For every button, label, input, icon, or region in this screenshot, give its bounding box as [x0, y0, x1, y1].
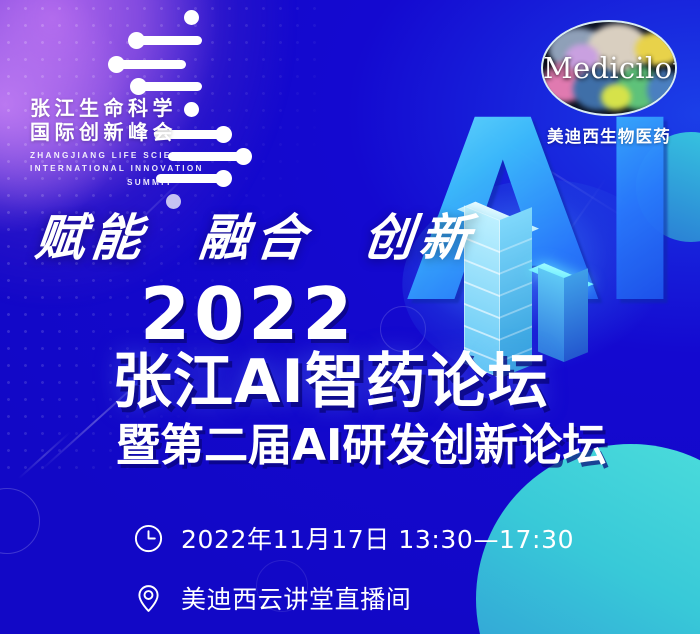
medicilon-logo: Medicilon 美迪西生物医药 [534, 20, 684, 147]
medicilon-wordmark: Medicilon [543, 51, 675, 85]
summit-logo-en-line1: ZHANGJIANG LIFE SCIENCE [30, 151, 196, 160]
event-year: 2022 [140, 278, 356, 350]
event-datetime-text: 2022年11月17日 13:30—17:30 [181, 520, 574, 556]
event-poster: AI AI 张江生命科学 国际创新 [0, 0, 700, 634]
slogan: 赋能 融合 创新 [32, 198, 480, 270]
summit-logo: 张江生命科学 国际创新峰会 ZHANGJIANG LIFE SCIENCE IN… [30, 96, 290, 189]
summit-logo-en-line3: SUMMIT [30, 176, 290, 190]
page-subtitle: 暨第二届AI研发创新论坛 [116, 424, 606, 468]
slogan-word-3: 创新 [360, 198, 480, 270]
slogan-word-2: 融合 [196, 198, 316, 270]
location-pin-icon [133, 583, 164, 614]
slogan-word-1: 赋能 [32, 198, 152, 270]
summit-logo-cn-line1: 张江生命科学 [30, 96, 290, 120]
summit-logo-en: ZHANGJIANG LIFE SCIENCE INTERNATIONAL IN… [30, 149, 290, 190]
summit-logo-cn-line2: 国际创新峰会 [30, 120, 290, 144]
medicilon-cn-name: 美迪西生物医药 [534, 123, 684, 147]
event-details: 2022年11月17日 13:30—17:30 美迪西云讲堂直播间 [133, 520, 574, 634]
medicilon-oval-mark: Medicilon [541, 20, 677, 116]
clock-icon [133, 523, 164, 554]
page-title: 张江AI智药论坛 [112, 352, 549, 412]
event-location-row: 美迪西云讲堂直播间 [133, 580, 574, 616]
event-location-text: 美迪西云讲堂直播间 [181, 580, 411, 616]
event-datetime-row: 2022年11月17日 13:30—17:30 [133, 520, 574, 556]
summit-logo-en-line2: INTERNATIONAL INNOVATION [30, 164, 204, 173]
